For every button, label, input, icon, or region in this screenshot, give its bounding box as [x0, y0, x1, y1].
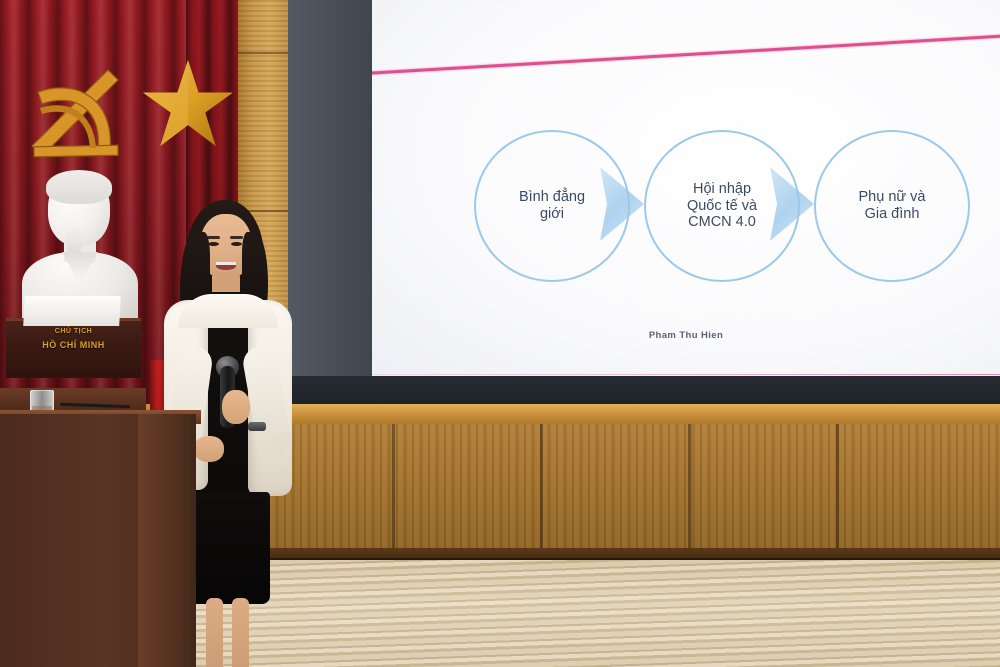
speaker-eyebrow-right [230, 236, 243, 239]
slide-diagram: Bình đẳng giới Hội nhập Quốc tế và CMCN … [372, 0, 1000, 376]
circle-1-line-1: Bình đẳng [519, 189, 585, 206]
panel-divider-2 [540, 424, 543, 560]
wood-paneling-wall [252, 424, 1000, 560]
wood-rail-main [252, 404, 1000, 426]
speaker-mouth [216, 262, 236, 270]
speaker-leg-right [232, 598, 249, 667]
pedestal-label-line1: CHỦ TỊCH [6, 328, 141, 335]
speaker-skirt [190, 492, 270, 604]
speaker-hand-right [222, 390, 250, 424]
diagram-circle-1: Bình đẳng giới [474, 130, 630, 282]
speaker-leg-left [206, 598, 223, 667]
speaker-wristwatch [248, 422, 266, 431]
bust-hair [46, 170, 112, 204]
panel-divider-4 [836, 424, 839, 560]
speaker-eye-right [231, 242, 242, 246]
podium-papers [23, 296, 121, 326]
speaker-eyebrow-left [207, 236, 220, 239]
slide-footer-author: Pham Thu Hien [372, 330, 1000, 341]
bust-pedestal: CHỦ TỊCH HỒ CHÍ MINH [6, 318, 141, 378]
circle-2-line-3: CMCN 4.0 [687, 214, 757, 231]
gold-star-icon [140, 58, 236, 150]
circle-3-line-2: Gia đình [859, 206, 926, 223]
panel-divider-1 [392, 424, 395, 560]
circle-2-line-1: Hội nhập [687, 181, 757, 198]
circle-1-line-2: giới [519, 206, 585, 223]
speaker-hand-left [194, 436, 224, 462]
speaker-eye-left [208, 242, 219, 246]
diagram-circle-2: Hội nhập Quốc tế và CMCN 4.0 [644, 130, 800, 282]
panel-divider-3 [688, 424, 691, 560]
circle-2-line-2: Quốc tế và [687, 198, 757, 215]
hammer-and-sickle-icon [18, 58, 136, 168]
conference-room-photo: CHỦ TỊCH HỒ CHÍ MINH Bình đẳng giới Hội … [0, 0, 1000, 667]
diagram-circle-3: Phụ nữ và Gia đình [814, 130, 970, 282]
speaker-cardigan-shoulders [178, 294, 278, 328]
podium-right-side [138, 414, 196, 667]
pedestal-label-line2: HỒ CHÍ MINH [6, 340, 141, 350]
circle-3-line-1: Phụ nữ và [859, 189, 926, 206]
